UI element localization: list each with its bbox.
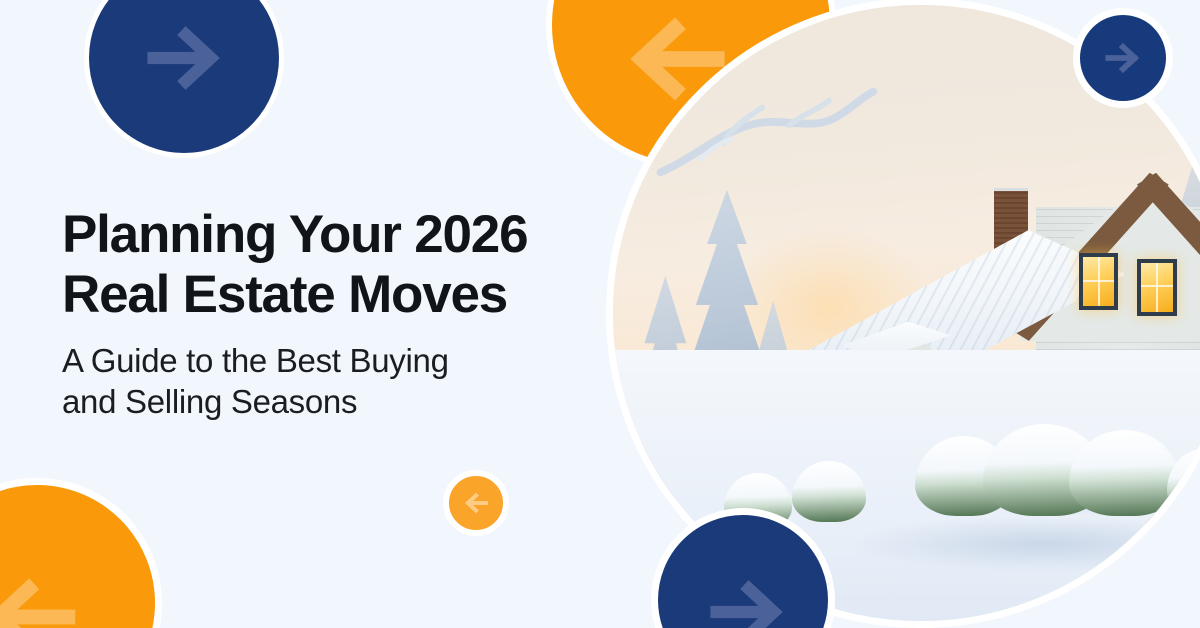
decor-circle-orange-bottom-left (0, 478, 162, 628)
promo-banner: Planning Your 2026 Real Estate Moves A G… (0, 0, 1200, 628)
page-subtitle: A Guide to the Best Buying and Selling S… (62, 340, 622, 423)
arrow-right-icon (141, 15, 227, 101)
decor-circle-navy-top-left (84, 0, 284, 158)
headline-block: Planning Your 2026 Real Estate Moves A G… (62, 205, 622, 423)
decor-circle-navy-top-right (1073, 8, 1173, 108)
page-title: Planning Your 2026 Real Estate Moves (62, 205, 622, 326)
arrow-right-icon (704, 569, 790, 628)
decor-circle-orange-small-mid (443, 470, 509, 536)
upper-window (1079, 253, 1119, 310)
upper-window (1137, 259, 1177, 316)
arrow-right-icon (1101, 36, 1145, 80)
arrow-left-icon (461, 488, 491, 518)
snow-shadow (847, 516, 1200, 571)
arrow-left-icon (0, 565, 83, 628)
